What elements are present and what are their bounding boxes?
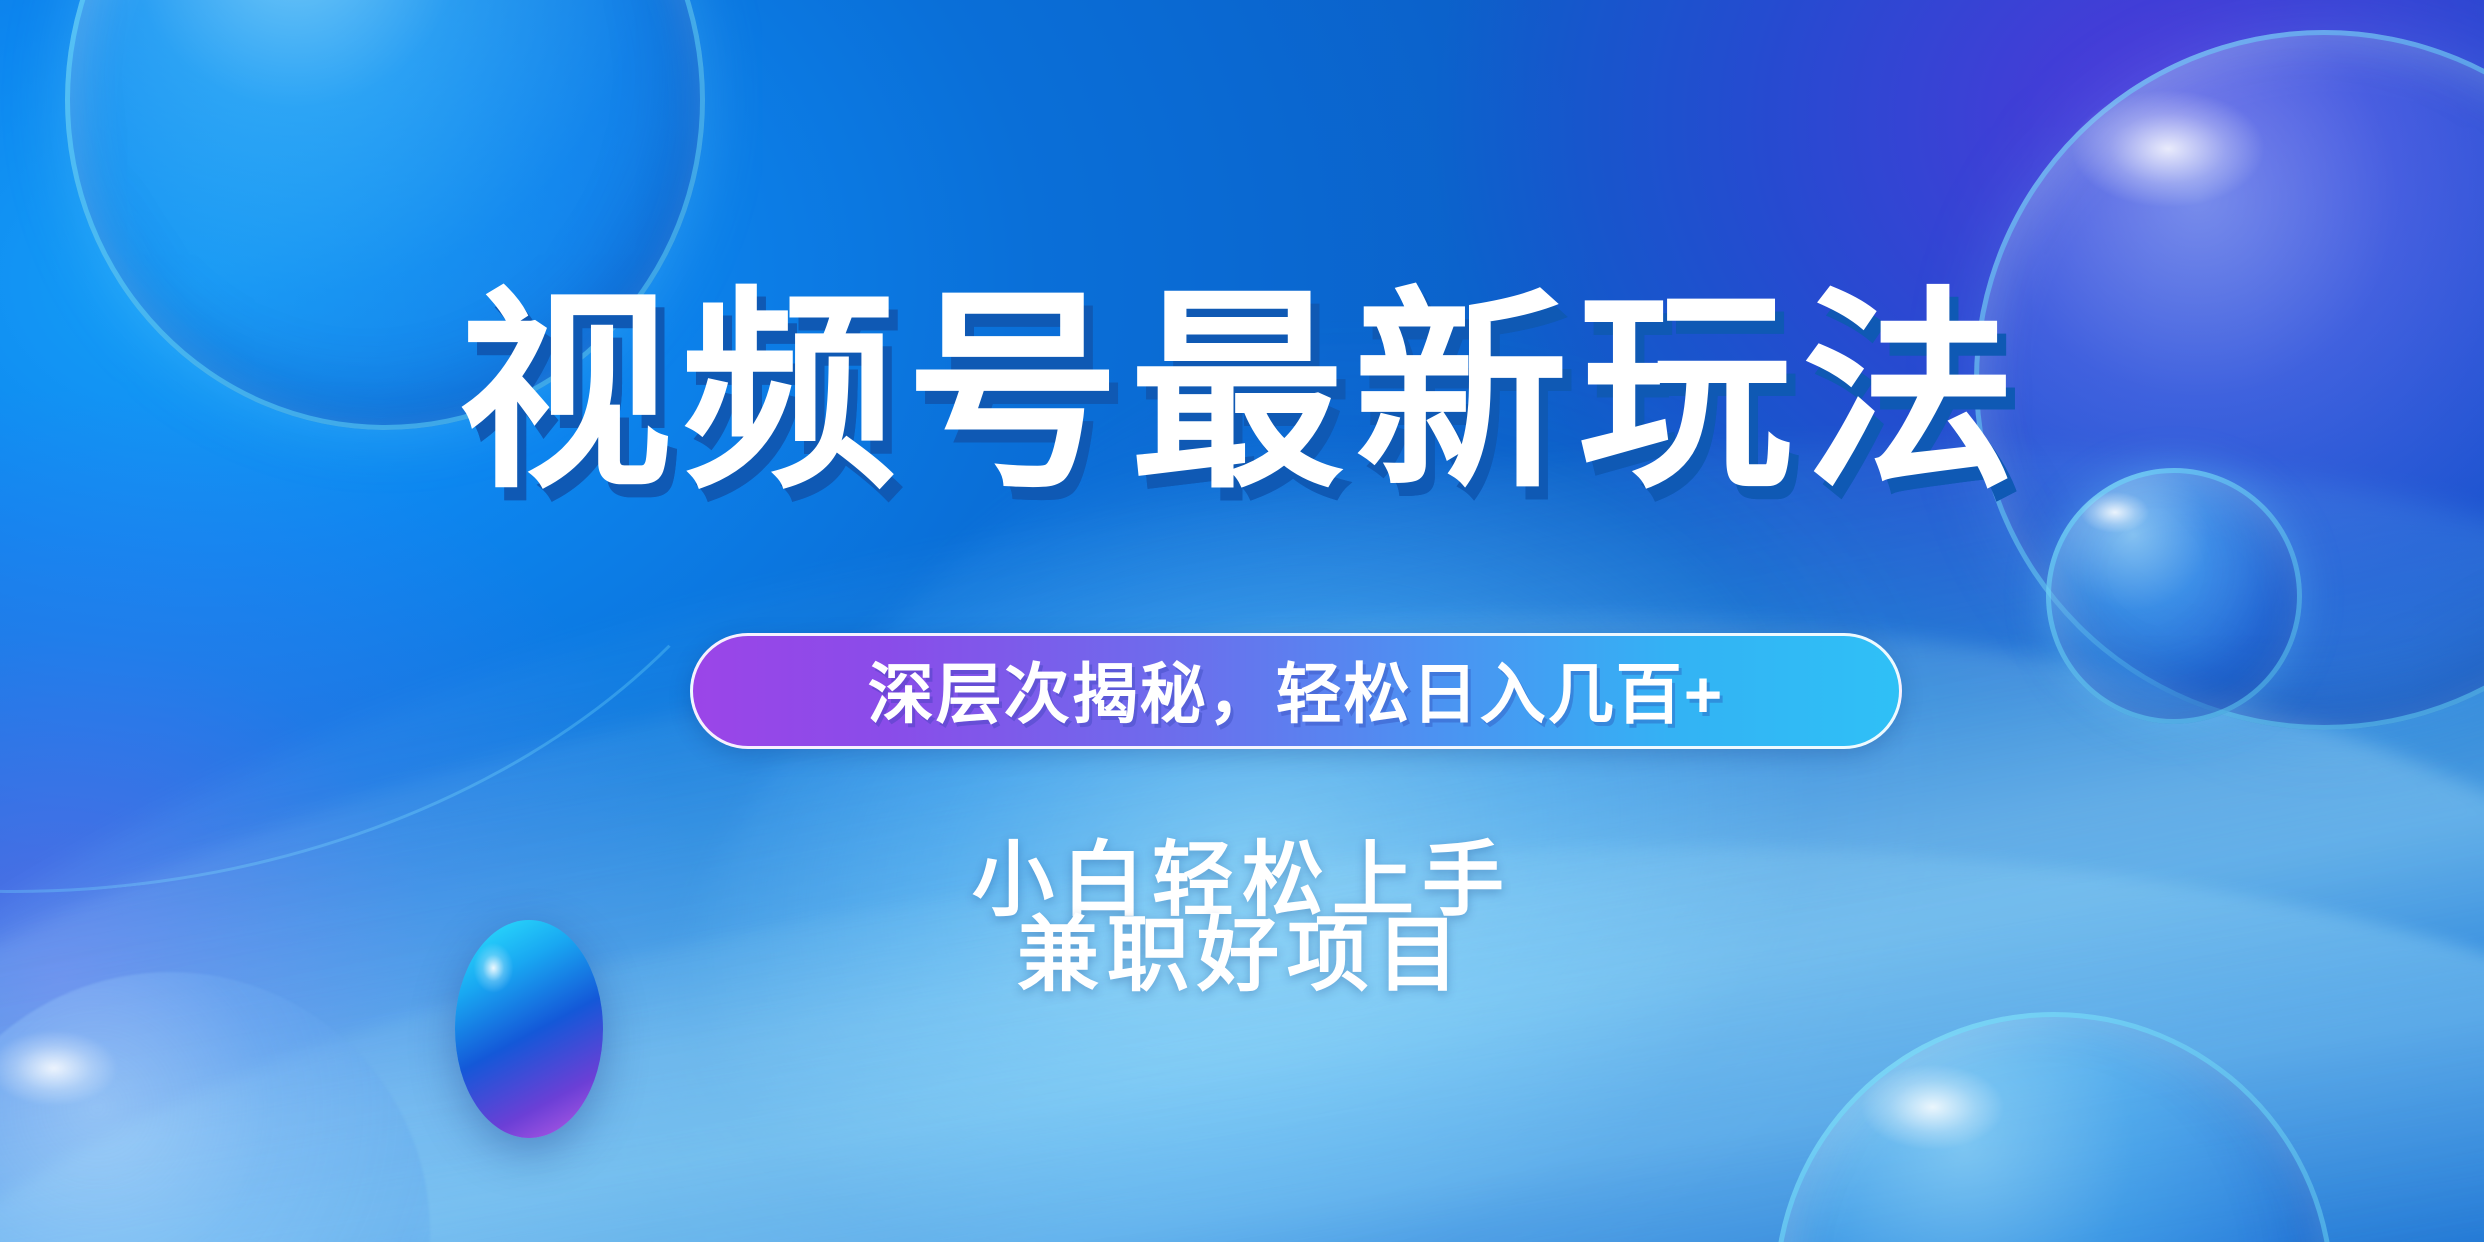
poster-content: 视频号最新玩法 深层次揭秘，轻松日入几百+ 小白轻松上手 兼职好项目 <box>0 0 2484 1242</box>
promo-poster: 视频号最新玩法 深层次揭秘，轻松日入几百+ 小白轻松上手 兼职好项目 <box>0 0 2484 1242</box>
highlight-badge-label: 深层次揭秘，轻松日入几百+ <box>868 641 1725 737</box>
subtitle-line-2: 兼职好项目 <box>0 888 2484 1007</box>
page-title: 视频号最新玩法 <box>0 286 2484 501</box>
highlight-badge: 深层次揭秘，轻松日入几百+ <box>690 633 1902 749</box>
